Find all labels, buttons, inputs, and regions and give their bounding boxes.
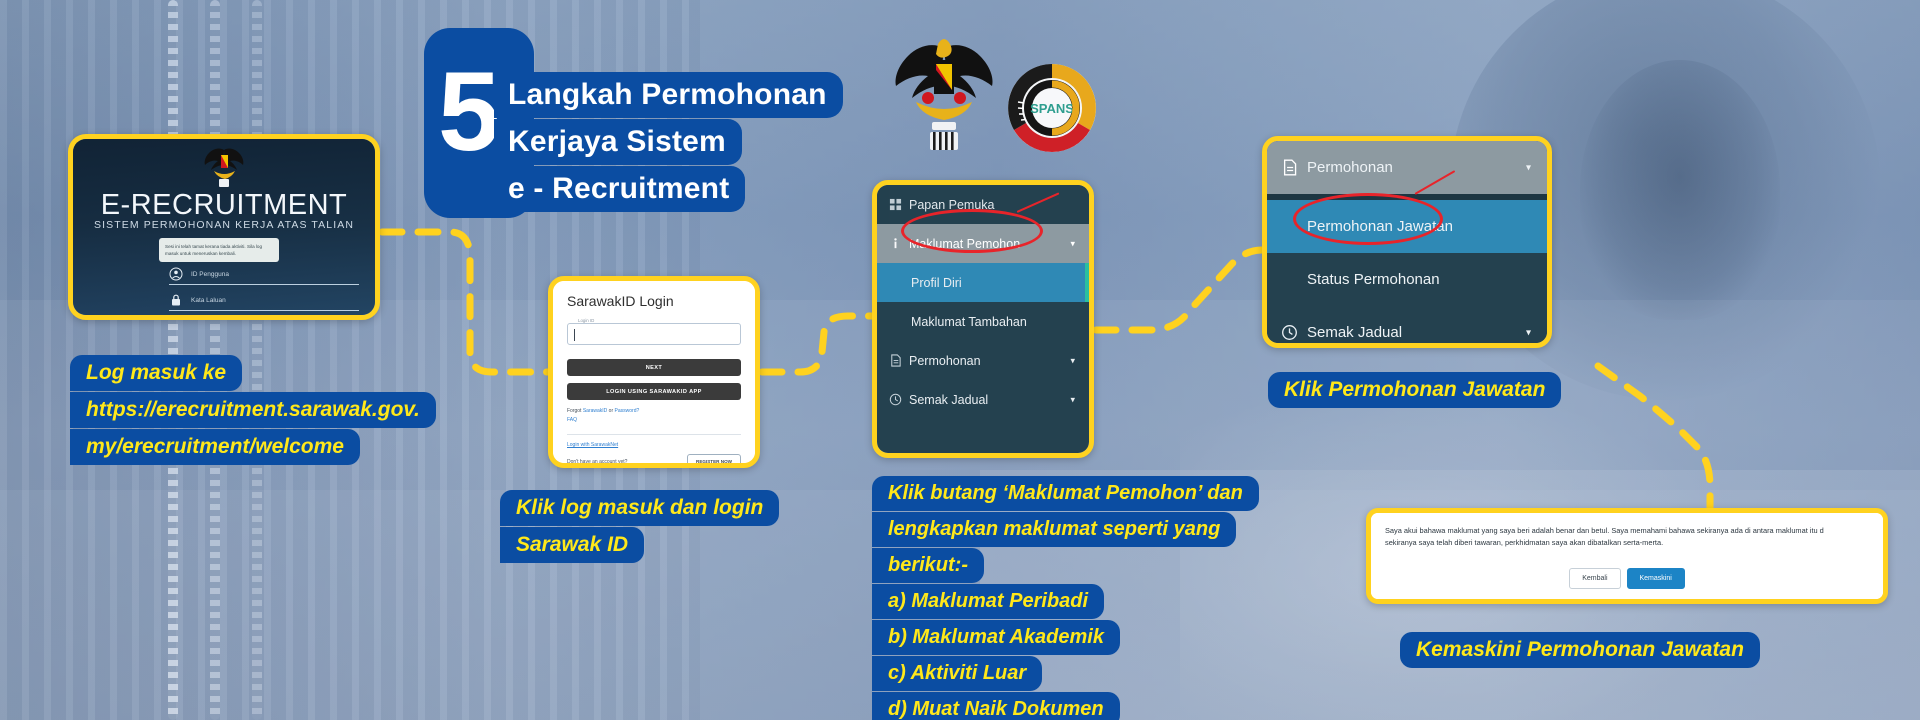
sarawakid-next-button[interactable]: NEXT	[567, 359, 741, 376]
screenshot-sidebar-maklumat-pemohon[interactable]: Papan Pemuka Maklumat Pemohon ▾ Profil D…	[872, 180, 1094, 458]
info-icon	[889, 237, 909, 250]
chevron-down-icon: ▾	[1070, 355, 1075, 366]
document-icon	[1281, 159, 1307, 176]
caption-line: my/erecruitment/welcome	[70, 429, 360, 465]
erecruitment-hero: E-RECRUITMENT SISTEM PERMOHONAN KERJA AT…	[73, 139, 375, 315]
forgot-sarawakid-link[interactable]: SarawakID	[583, 408, 607, 414]
title-line-3: e - Recruitment	[494, 166, 745, 212]
sidebar-item-profil-diri[interactable]: Profil Diri	[877, 263, 1089, 302]
sarawakid-footer: Login with SarawakNet Don't have an acco…	[567, 442, 741, 468]
sarawakid-app-login-button[interactable]: LOGIN USING SARAWAKID APP	[567, 383, 741, 400]
faq-link[interactable]: FAQ	[567, 417, 577, 423]
clock-icon	[1281, 324, 1307, 341]
sidebar-item-semak-jadual[interactable]: Semak Jadual ▾	[877, 380, 1089, 419]
session-expired-alert: Sesi ini telah tamat kerana tiada aktivi…	[159, 238, 279, 262]
sidebar-item-label: Permohonan	[909, 354, 981, 368]
kembali-button[interactable]: Kembali	[1569, 568, 1620, 589]
sidebar-item-label: Profil Diri	[911, 276, 962, 290]
erecruitment-title: E-RECRUITMENT	[73, 189, 375, 222]
caption-line: c) Aktiviti Luar	[872, 656, 1042, 691]
forgot-label: Forgot	[567, 408, 583, 414]
sarawakid-loginid-input[interactable]	[567, 323, 741, 345]
chevron-down-icon: ▾	[1526, 327, 1531, 338]
sidebar-item-permohonan[interactable]: Permohonan ▾	[877, 341, 1089, 380]
erecruitment-subtitle: SISTEM PERMOHONAN KERJA ATAS TALIAN	[73, 219, 375, 231]
screenshot-sidebar-permohonan[interactable]: Permohonan ▾ Permohonan Jawatan Status P…	[1262, 136, 1552, 348]
caption-line: a) Maklumat Peribadi	[872, 584, 1104, 619]
caption-line: Klik log masuk dan login	[500, 490, 779, 526]
step-count-number: 5	[438, 56, 498, 168]
sidebar-item-label: Semak Jadual	[1307, 324, 1402, 341]
caption-line: b) Maklumat Akademik	[872, 620, 1120, 655]
caption-step-5: Kemaskini Permohonan Jawatan	[1400, 632, 1760, 669]
text-caret	[574, 329, 575, 341]
title-line-2: Kerjaya Sistem	[494, 119, 742, 165]
caption-step-1: Log masuk ke https://erecruitment.sarawa…	[70, 355, 436, 466]
caption-step-2: Klik log masuk dan login Sarawak ID	[500, 490, 779, 564]
screenshot-declaration-dialog[interactable]: Saya akui bahawa maklumat yang saya beri…	[1366, 508, 1888, 604]
declaration-panel: Saya akui bahawa maklumat yang saya beri…	[1371, 513, 1883, 599]
sidebar-item-label: Papan Pemuka	[909, 198, 994, 212]
caption-line: Klik Permohonan Jawatan	[1268, 372, 1561, 408]
sidebar-menu: Papan Pemuka Maklumat Pemohon ▾ Profil D…	[877, 185, 1089, 453]
erecruitment-password-field[interactable]: Kata Laluan	[169, 291, 359, 311]
caption-step-3: Klik butang ‘Maklumat Pemohon’ dan lengk…	[872, 476, 1259, 720]
divider	[567, 434, 741, 435]
login-with-sarawaknet-link[interactable]: Login with SarawakNet	[567, 442, 741, 448]
clock-icon	[889, 393, 909, 406]
title-line-1: Langkah Permohonan	[494, 72, 843, 118]
sidebar-item-label: Maklumat Pemohon	[909, 237, 1020, 251]
lock-icon	[169, 293, 183, 307]
user-icon	[169, 267, 183, 281]
sidebar-item-permohonan-jawatan[interactable]: Permohonan Jawatan	[1267, 200, 1547, 253]
chevron-down-icon: ▾	[1070, 394, 1075, 405]
kemaskini-button[interactable]: Kemaskini	[1627, 568, 1685, 589]
chevron-down-icon: ▾	[1070, 238, 1075, 249]
sidebar-menu: Permohonan ▾ Permohonan Jawatan Status P…	[1267, 141, 1547, 343]
sidebar-item-status-permohonan[interactable]: Status Permohonan	[1267, 253, 1547, 306]
declaration-actions: Kembali Kemaskini	[1371, 568, 1883, 589]
sarawakid-panel: SarawakID Login Login ID NEXT LOGIN USIN…	[553, 281, 755, 463]
erecruitment-login-button[interactable]: Log Masuk	[169, 319, 359, 320]
sidebar-item-maklumat-tambahan[interactable]: Maklumat Tambahan	[877, 302, 1089, 341]
sarawak-coat-of-arms-icon	[203, 143, 245, 189]
sidebar-item-maklumat-pemohon[interactable]: Maklumat Pemohon ▾	[877, 224, 1089, 263]
svg-text:SPANS: SPANS	[1030, 101, 1074, 116]
sidebar-item-label: Semak Jadual	[909, 393, 988, 407]
caption-line: lengkapkan maklumat seperti yang	[872, 512, 1236, 547]
caption-line: Log masuk ke	[70, 355, 242, 391]
sidebar-item-label: Permohonan	[1307, 159, 1393, 176]
sarawakid-help-links: Forgot SarawakID or Password? FAQ	[567, 407, 741, 425]
erecruitment-password-placeholder: Kata Laluan	[191, 297, 226, 304]
erecruitment-userid-field[interactable]: ID Pengguna	[169, 265, 359, 285]
infographic-canvas: 5 Langkah Permohonan Kerjaya Sistem e - …	[0, 0, 1920, 720]
page-title: 5 Langkah Permohonan Kerjaya Sistem e - …	[424, 28, 904, 218]
screenshot-sarawakid-login[interactable]: SarawakID Login Login ID NEXT LOGIN USIN…	[548, 276, 760, 468]
dashboard-icon	[889, 198, 909, 211]
chevron-down-icon: ▾	[1526, 162, 1531, 173]
caption-line: berikut:-	[872, 548, 984, 583]
sidebar-item-semak-jadual[interactable]: Semak Jadual ▾	[1267, 306, 1547, 348]
caption-line: d) Muat Naik Dokumen	[872, 692, 1120, 720]
forgot-or: or	[607, 408, 614, 414]
forgot-password-link[interactable]: Password?	[615, 408, 640, 414]
document-icon	[889, 354, 909, 367]
sarawakid-title: SarawakID Login	[567, 293, 741, 309]
caption-line: Kemaskini Permohonan Jawatan	[1400, 632, 1760, 668]
sidebar-item-label: Status Permohonan	[1307, 271, 1440, 288]
no-account-label: Don't have an account yet?	[567, 459, 627, 465]
selection-edge	[1085, 263, 1089, 302]
caption-line: Klik butang ‘Maklumat Pemohon’ dan	[872, 476, 1259, 511]
erecruitment-userid-placeholder: ID Pengguna	[191, 271, 229, 278]
caption-line: Sarawak ID	[500, 527, 644, 563]
screenshot-erecruitment-login[interactable]: E-RECRUITMENT SISTEM PERMOHONAN KERJA AT…	[68, 134, 380, 320]
sidebar-item-permohonan[interactable]: Permohonan ▾	[1267, 141, 1547, 194]
declaration-text-line-1: Saya akui bahawa maklumat yang saya beri…	[1385, 525, 1869, 537]
caption-line: https://erecruitment.sarawak.gov.	[70, 392, 436, 428]
logo-row: SPANS	[888, 30, 1118, 158]
caption-step-4: Klik Permohonan Jawatan	[1268, 372, 1561, 409]
declaration-text-line-2: sekiranya saya telah diberi tawaran, per…	[1385, 537, 1869, 549]
sidebar-item-papan-pemuka[interactable]: Papan Pemuka	[877, 185, 1089, 224]
spans-logo-icon: SPANS	[1006, 62, 1098, 154]
register-now-button[interactable]: REGISTER NOW	[687, 454, 741, 468]
sidebar-item-label: Maklumat Tambahan	[911, 315, 1027, 329]
title-lines: Langkah Permohonan Kerjaya Sistem e - Re…	[494, 72, 843, 213]
sarawak-coat-of-arms-icon	[888, 30, 1000, 156]
sidebar-item-label: Permohonan Jawatan	[1307, 218, 1453, 235]
